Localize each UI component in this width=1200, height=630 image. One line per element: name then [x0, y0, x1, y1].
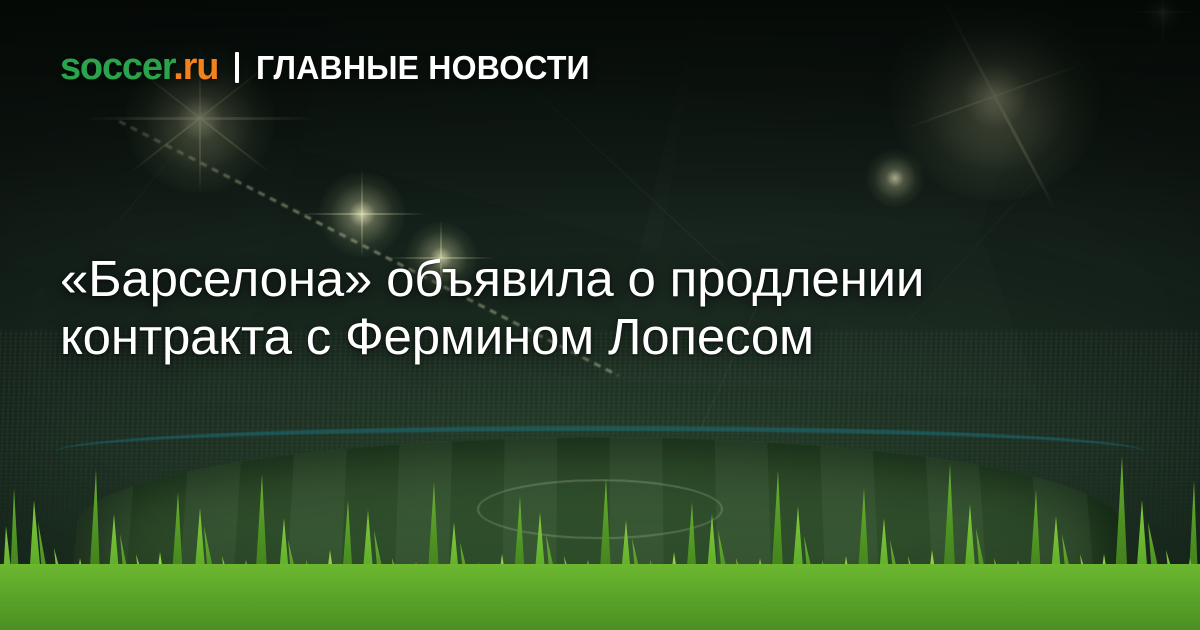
grass-foreground — [0, 430, 1200, 630]
article-headline: «Барселона» объявила о продлении контрак… — [60, 250, 1150, 366]
site-header: soccer.ru ГЛАВНЫЕ НОВОСТИ — [60, 48, 600, 86]
logo-word-soccer: soccer — [60, 46, 173, 88]
logo-word-ru: .ru — [173, 46, 218, 88]
header-kicker: ГЛАВНЫЕ НОВОСТИ — [256, 51, 590, 84]
news-poster: soccer.ru ГЛАВНЫЕ НОВОСТИ «Барселона» об… — [0, 0, 1200, 630]
soccer-ru-logo[interactable]: soccer.ru — [60, 48, 218, 86]
header-separator — [235, 52, 239, 83]
grass-base — [0, 564, 1200, 630]
